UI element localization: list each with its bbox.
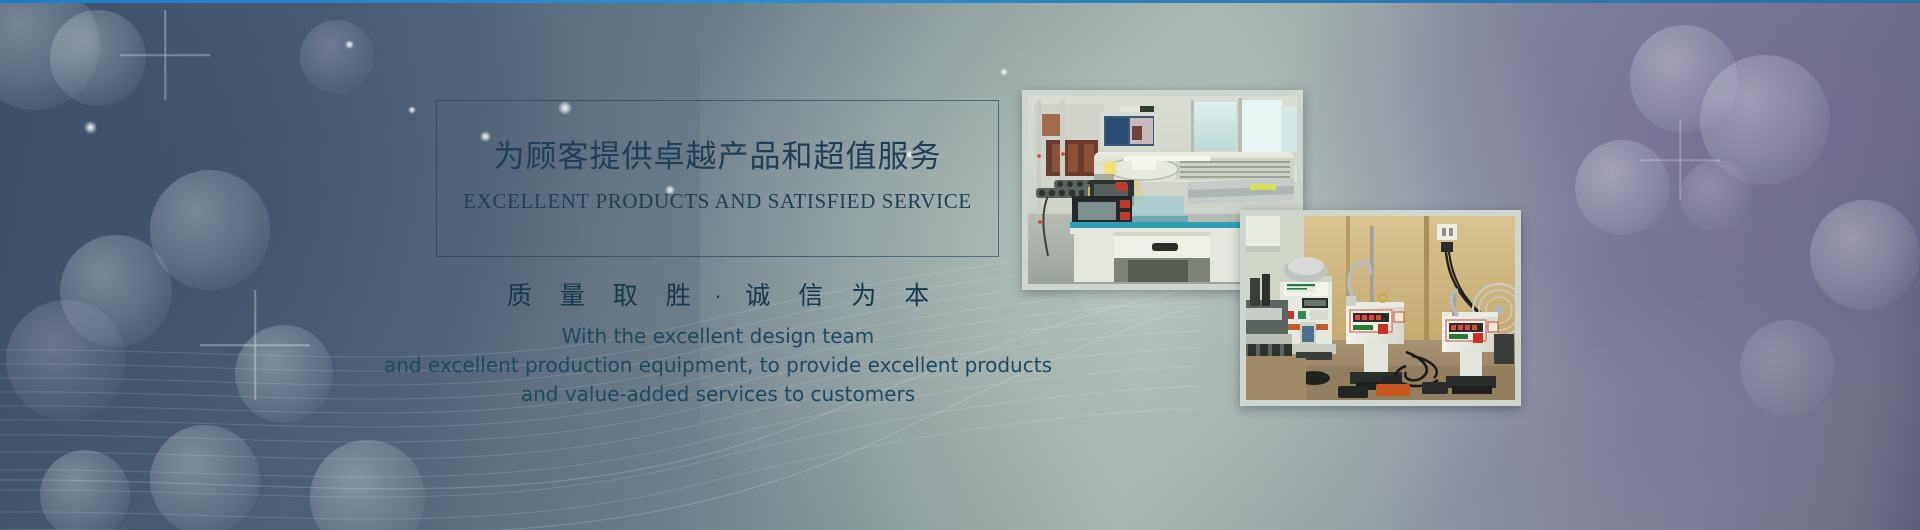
headline-frame bbox=[436, 100, 999, 257]
slogan-char: 量 bbox=[546, 276, 599, 312]
slogan-char: 胜 bbox=[652, 276, 705, 312]
description-line: With the excellent design team bbox=[330, 322, 1106, 351]
press-machines-photo-image bbox=[1246, 216, 1515, 400]
slogan-char: 信 bbox=[784, 276, 837, 312]
top-accent-rule bbox=[0, 0, 1920, 3]
slogan-chinese: 质量取胜·诚信为本 bbox=[400, 276, 1036, 312]
banner-text-block: 为顾客提供卓越产品和超值服务 EXCELLENT PRODUCTS AND SA… bbox=[0, 0, 1920, 530]
press-machines-photo[interactable] bbox=[1240, 210, 1521, 406]
slogan-char: 为 bbox=[837, 276, 890, 312]
slogan-char: 质 bbox=[493, 276, 546, 312]
headline-chinese: 为顾客提供卓越产品和超值服务 bbox=[436, 131, 999, 176]
subtitle-english: EXCELLENT PRODUCTS AND SATISFIED SERVICE bbox=[436, 189, 999, 214]
slogan-char: 本 bbox=[890, 276, 943, 312]
slogan-char: 诚 bbox=[731, 276, 784, 312]
description-line: and excellent production equipment, to p… bbox=[330, 351, 1106, 380]
description-line: and value-added services to customers bbox=[330, 380, 1106, 409]
slogan-separator: · bbox=[705, 285, 731, 309]
company-slogan-banner: 为顾客提供卓越产品和超值服务 EXCELLENT PRODUCTS AND SA… bbox=[0, 0, 1920, 530]
slogan-char: 取 bbox=[599, 276, 652, 312]
description-paragraph: With the excellent design team and excel… bbox=[330, 322, 1106, 409]
